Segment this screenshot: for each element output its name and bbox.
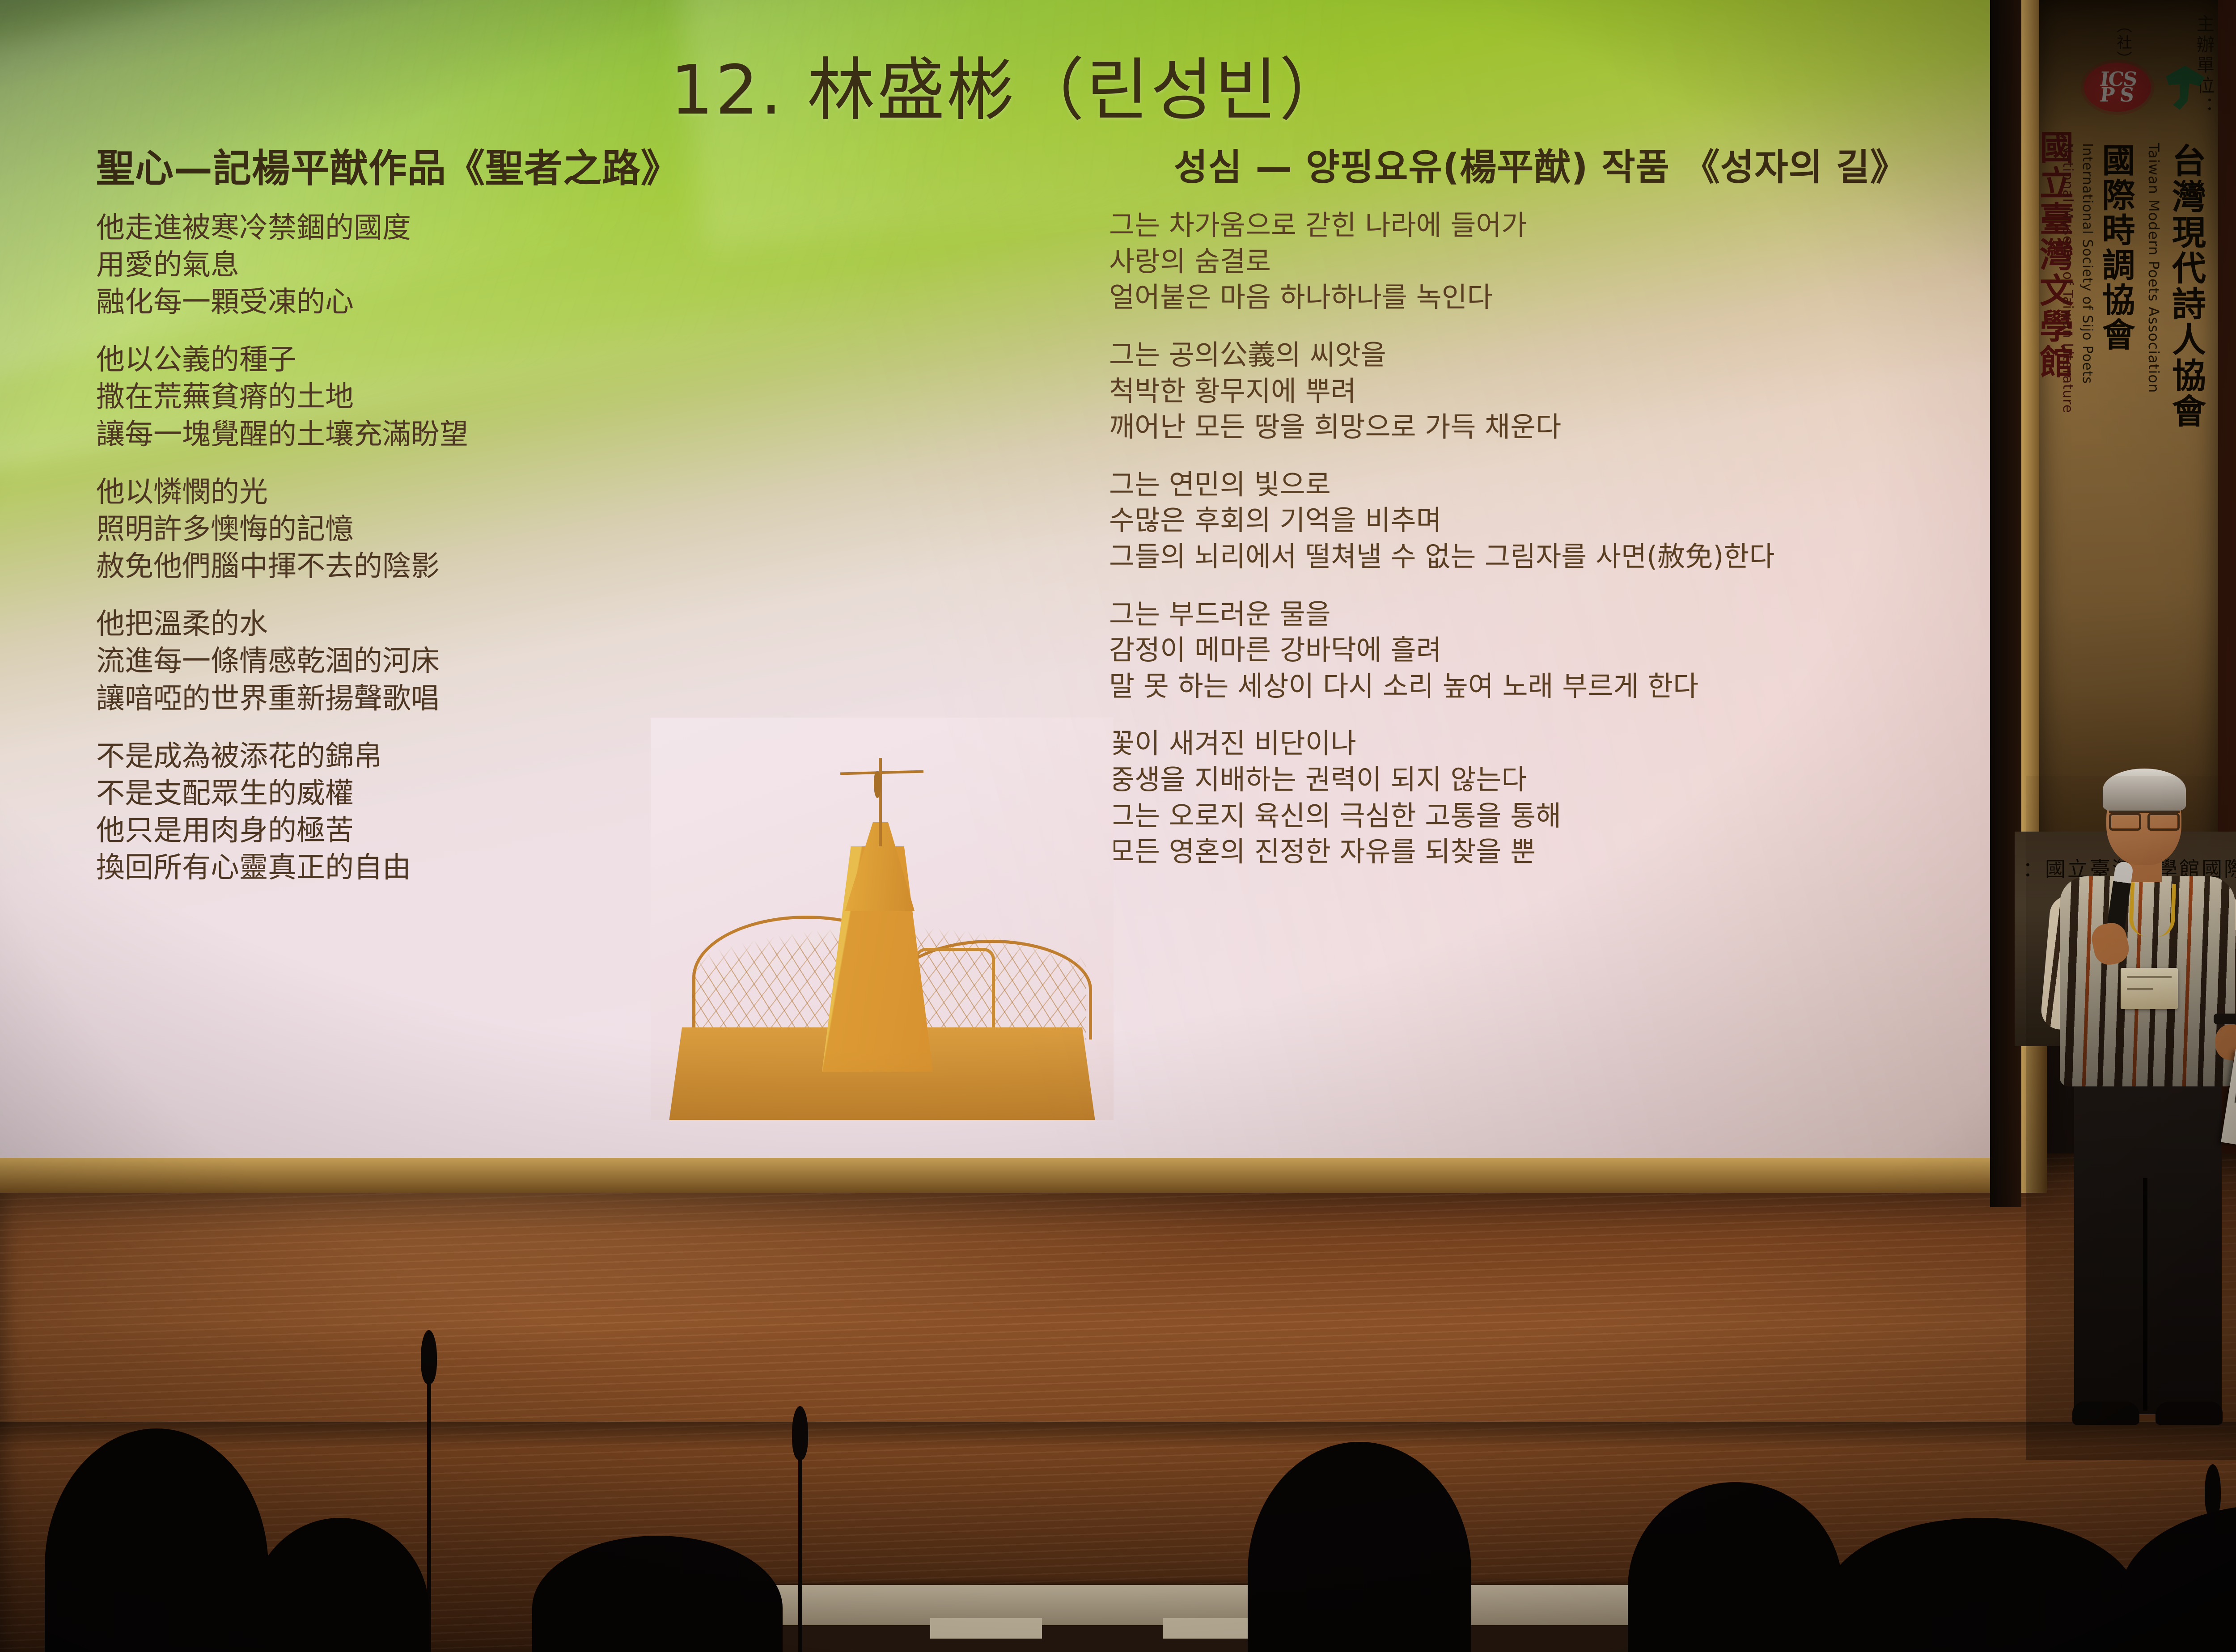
projection-screen: 12. 林盛彬（린성빈） 聖心—記楊平猷作品《聖者之路》 他走進被寒冷禁錮的國度… bbox=[0, 0, 2019, 1158]
desk-paper bbox=[930, 1618, 1042, 1639]
presenter-name-badge bbox=[2121, 968, 2178, 1009]
microphone-head-icon bbox=[792, 1406, 808, 1460]
microphone-stand bbox=[798, 1446, 802, 1652]
screen-frame-bottom bbox=[0, 1158, 2019, 1193]
presenter bbox=[2026, 776, 2236, 1460]
presenter-shoe-left bbox=[2072, 1402, 2139, 1425]
presenter-trousers bbox=[2074, 1074, 2222, 1414]
stage-edge bbox=[0, 1422, 2236, 1449]
presenter-shoe-right bbox=[2156, 1402, 2223, 1425]
glasses-icon bbox=[2109, 811, 2180, 826]
presenter-lanyard bbox=[2129, 882, 2176, 937]
presenter-hair bbox=[2103, 769, 2186, 811]
presenter-leg-split bbox=[2143, 1178, 2147, 1411]
conference-photo: 12. 林盛彬（린성빈） 聖心—記楊平猷作品《聖者之路》 他走進被寒冷禁錮的國度… bbox=[0, 0, 2236, 1652]
microphone-head-icon bbox=[2205, 1464, 2221, 1518]
wristwatch-icon bbox=[2214, 1014, 2236, 1024]
screen-vignette bbox=[0, 0, 2019, 1158]
microphone-head-icon bbox=[421, 1330, 437, 1384]
